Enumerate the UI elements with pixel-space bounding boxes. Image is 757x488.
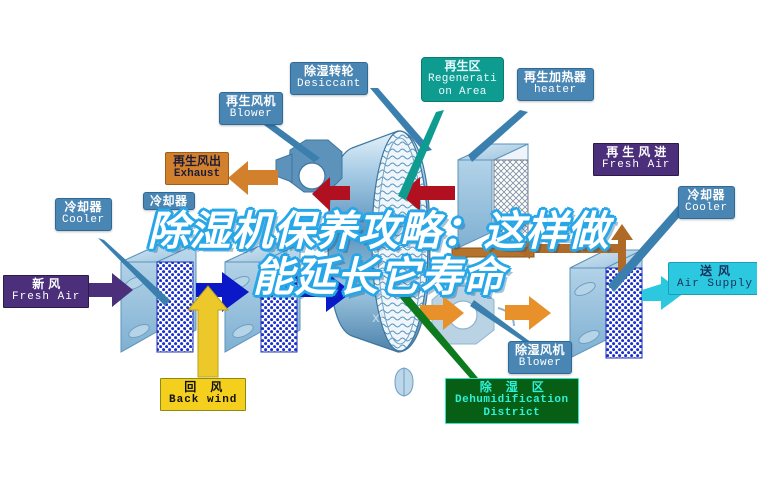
label-en: Dehumidification [455, 394, 569, 406]
label-en: Blower [515, 357, 565, 369]
label-en: Exhaust [173, 168, 221, 180]
label-cn: 除湿风机 [515, 344, 565, 357]
label-cn: 送风 [677, 265, 753, 278]
dry-air-arrow-2 [505, 296, 551, 330]
label-en-2: District [455, 407, 569, 419]
label-desiccant-wheel[interactable]: 除湿转轮 Desiccant [290, 62, 368, 95]
label-dehumidification-district[interactable]: 除湿区 Dehumidification District [445, 378, 579, 424]
label-cn: 冷却器 [150, 195, 188, 208]
exhaust-arrow [228, 161, 278, 195]
label-cn: 除湿转轮 [297, 65, 361, 78]
label-cooler-middle[interactable]: 冷却器 [143, 192, 195, 210]
svg-text:xt: xt [372, 311, 385, 326]
label-cn: 再生风进 [602, 146, 670, 159]
label-cn: 再生风机 [226, 95, 276, 108]
label-en: Blower [226, 108, 276, 120]
label-cn: 回风 [169, 381, 237, 394]
label-regeneration-blower[interactable]: 再生风机 Blower [219, 92, 283, 125]
label-regeneration-fresh-air[interactable]: 再生风进 Fresh Air [593, 143, 679, 176]
label-cn: 再生风出 [173, 155, 221, 168]
label-regeneration-exhaust[interactable]: 再生风出 Exhaust [165, 152, 229, 185]
label-cn: 再生区 [428, 60, 497, 73]
label-en: Regenerati [428, 73, 497, 85]
label-en: Air Supply [677, 278, 753, 290]
label-en-2: on Area [428, 86, 497, 98]
schematic-artwork: xt [0, 0, 757, 488]
label-en: Cooler [62, 214, 105, 226]
label-fresh-air-inlet[interactable]: 新风 Fresh Air [3, 275, 89, 308]
label-dehumidification-blower[interactable]: 除湿风机 Blower [508, 341, 572, 374]
label-en: Desiccant [297, 78, 361, 90]
label-en: Fresh Air [602, 159, 670, 171]
label-en: heater [524, 84, 587, 96]
label-cn: 再生加热器 [524, 71, 587, 84]
label-back-wind[interactable]: 回风 Back wind [160, 378, 246, 411]
label-cn: 新风 [12, 278, 80, 291]
label-en: Fresh Air [12, 291, 80, 303]
label-regeneration-area[interactable]: 再生区 Regenerati on Area [421, 57, 504, 102]
label-regeneration-heater[interactable]: 再生加热器 heater [517, 68, 594, 101]
label-cooler-right[interactable]: 冷却器 Cooler [678, 186, 735, 219]
label-en: Back wind [169, 394, 237, 406]
diagram-canvas: xt [0, 0, 757, 488]
regeneration-heater [452, 144, 534, 257]
regeneration-blower [276, 140, 342, 192]
label-cn: 冷却器 [62, 201, 105, 214]
label-cn: 除湿区 [455, 381, 569, 394]
label-cn: 冷却器 [685, 189, 728, 202]
label-en: Cooler [685, 202, 728, 214]
label-cooler-left[interactable]: 冷却器 Cooler [55, 198, 112, 231]
label-air-supply[interactable]: 送风 Air Supply [668, 262, 757, 295]
